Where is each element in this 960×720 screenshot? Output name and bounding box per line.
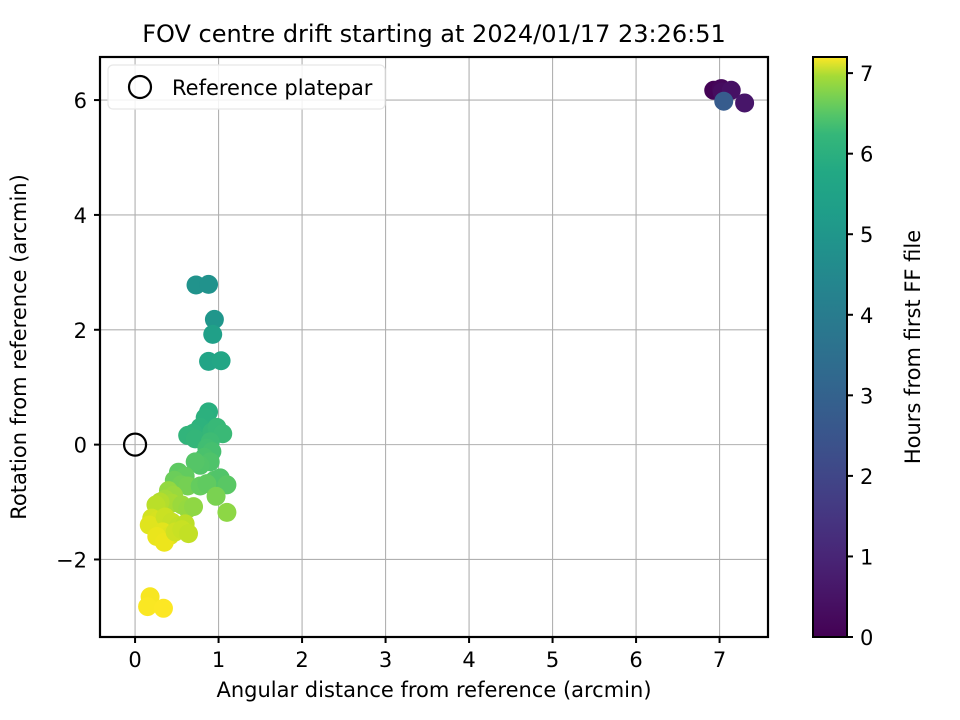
data-point <box>179 524 198 543</box>
colorbar-label: Hours from first FF file <box>901 230 925 464</box>
data-point <box>154 599 173 618</box>
y-tick-label: 2 <box>74 319 87 343</box>
y-axis-label: Rotation from reference (arcmin) <box>7 174 31 520</box>
chart-svg: 01234567−20246 FOV centre drift starting… <box>0 0 960 720</box>
x-tick-label: 6 <box>629 648 642 672</box>
x-tick-label: 3 <box>379 648 392 672</box>
chart-title: FOV centre drift starting at 2024/01/17 … <box>142 20 726 48</box>
x-axis-label: Angular distance from reference (arcmin) <box>216 678 651 702</box>
legend-label: Reference platepar <box>172 76 373 100</box>
colorbar-tick-label: 4 <box>860 304 873 328</box>
legend[interactable]: Reference platepar <box>108 65 385 109</box>
colorbar-tick-label: 2 <box>860 465 873 489</box>
x-tick-label: 0 <box>128 648 141 672</box>
data-point <box>184 497 203 516</box>
plot-background <box>100 57 768 637</box>
y-tick-label: 4 <box>74 204 87 228</box>
colorbar-tick-label: 6 <box>860 143 873 167</box>
colorbar-tick-label: 5 <box>860 223 873 247</box>
colorbar-tick-label: 0 <box>860 626 873 650</box>
data-point <box>714 92 733 111</box>
colorbar-tick-labels: 01234567 <box>860 62 873 650</box>
x-tick-label: 4 <box>462 648 475 672</box>
y-tick-label: 0 <box>74 434 87 458</box>
data-point <box>203 325 222 344</box>
data-point <box>217 503 236 522</box>
data-point <box>212 351 231 370</box>
x-tick-label: 5 <box>546 648 559 672</box>
x-tick-label: 2 <box>295 648 308 672</box>
colorbar-tick-label: 1 <box>860 545 873 569</box>
data-point <box>207 487 226 506</box>
colorbar-gradient <box>813 57 847 637</box>
data-point <box>199 275 218 294</box>
y-tick-label: 6 <box>74 89 87 113</box>
x-tick-label: 1 <box>212 648 225 672</box>
colorbar-tick-label: 7 <box>860 62 873 86</box>
colorbar[interactable]: 01234567 Hours from first FF file <box>813 57 925 650</box>
colorbar-tick-label: 3 <box>860 384 873 408</box>
data-point <box>735 93 754 112</box>
x-tick-label: 7 <box>713 648 726 672</box>
y-tick-label: −2 <box>56 548 87 572</box>
figure-canvas: 01234567−20246 FOV centre drift starting… <box>0 0 960 720</box>
